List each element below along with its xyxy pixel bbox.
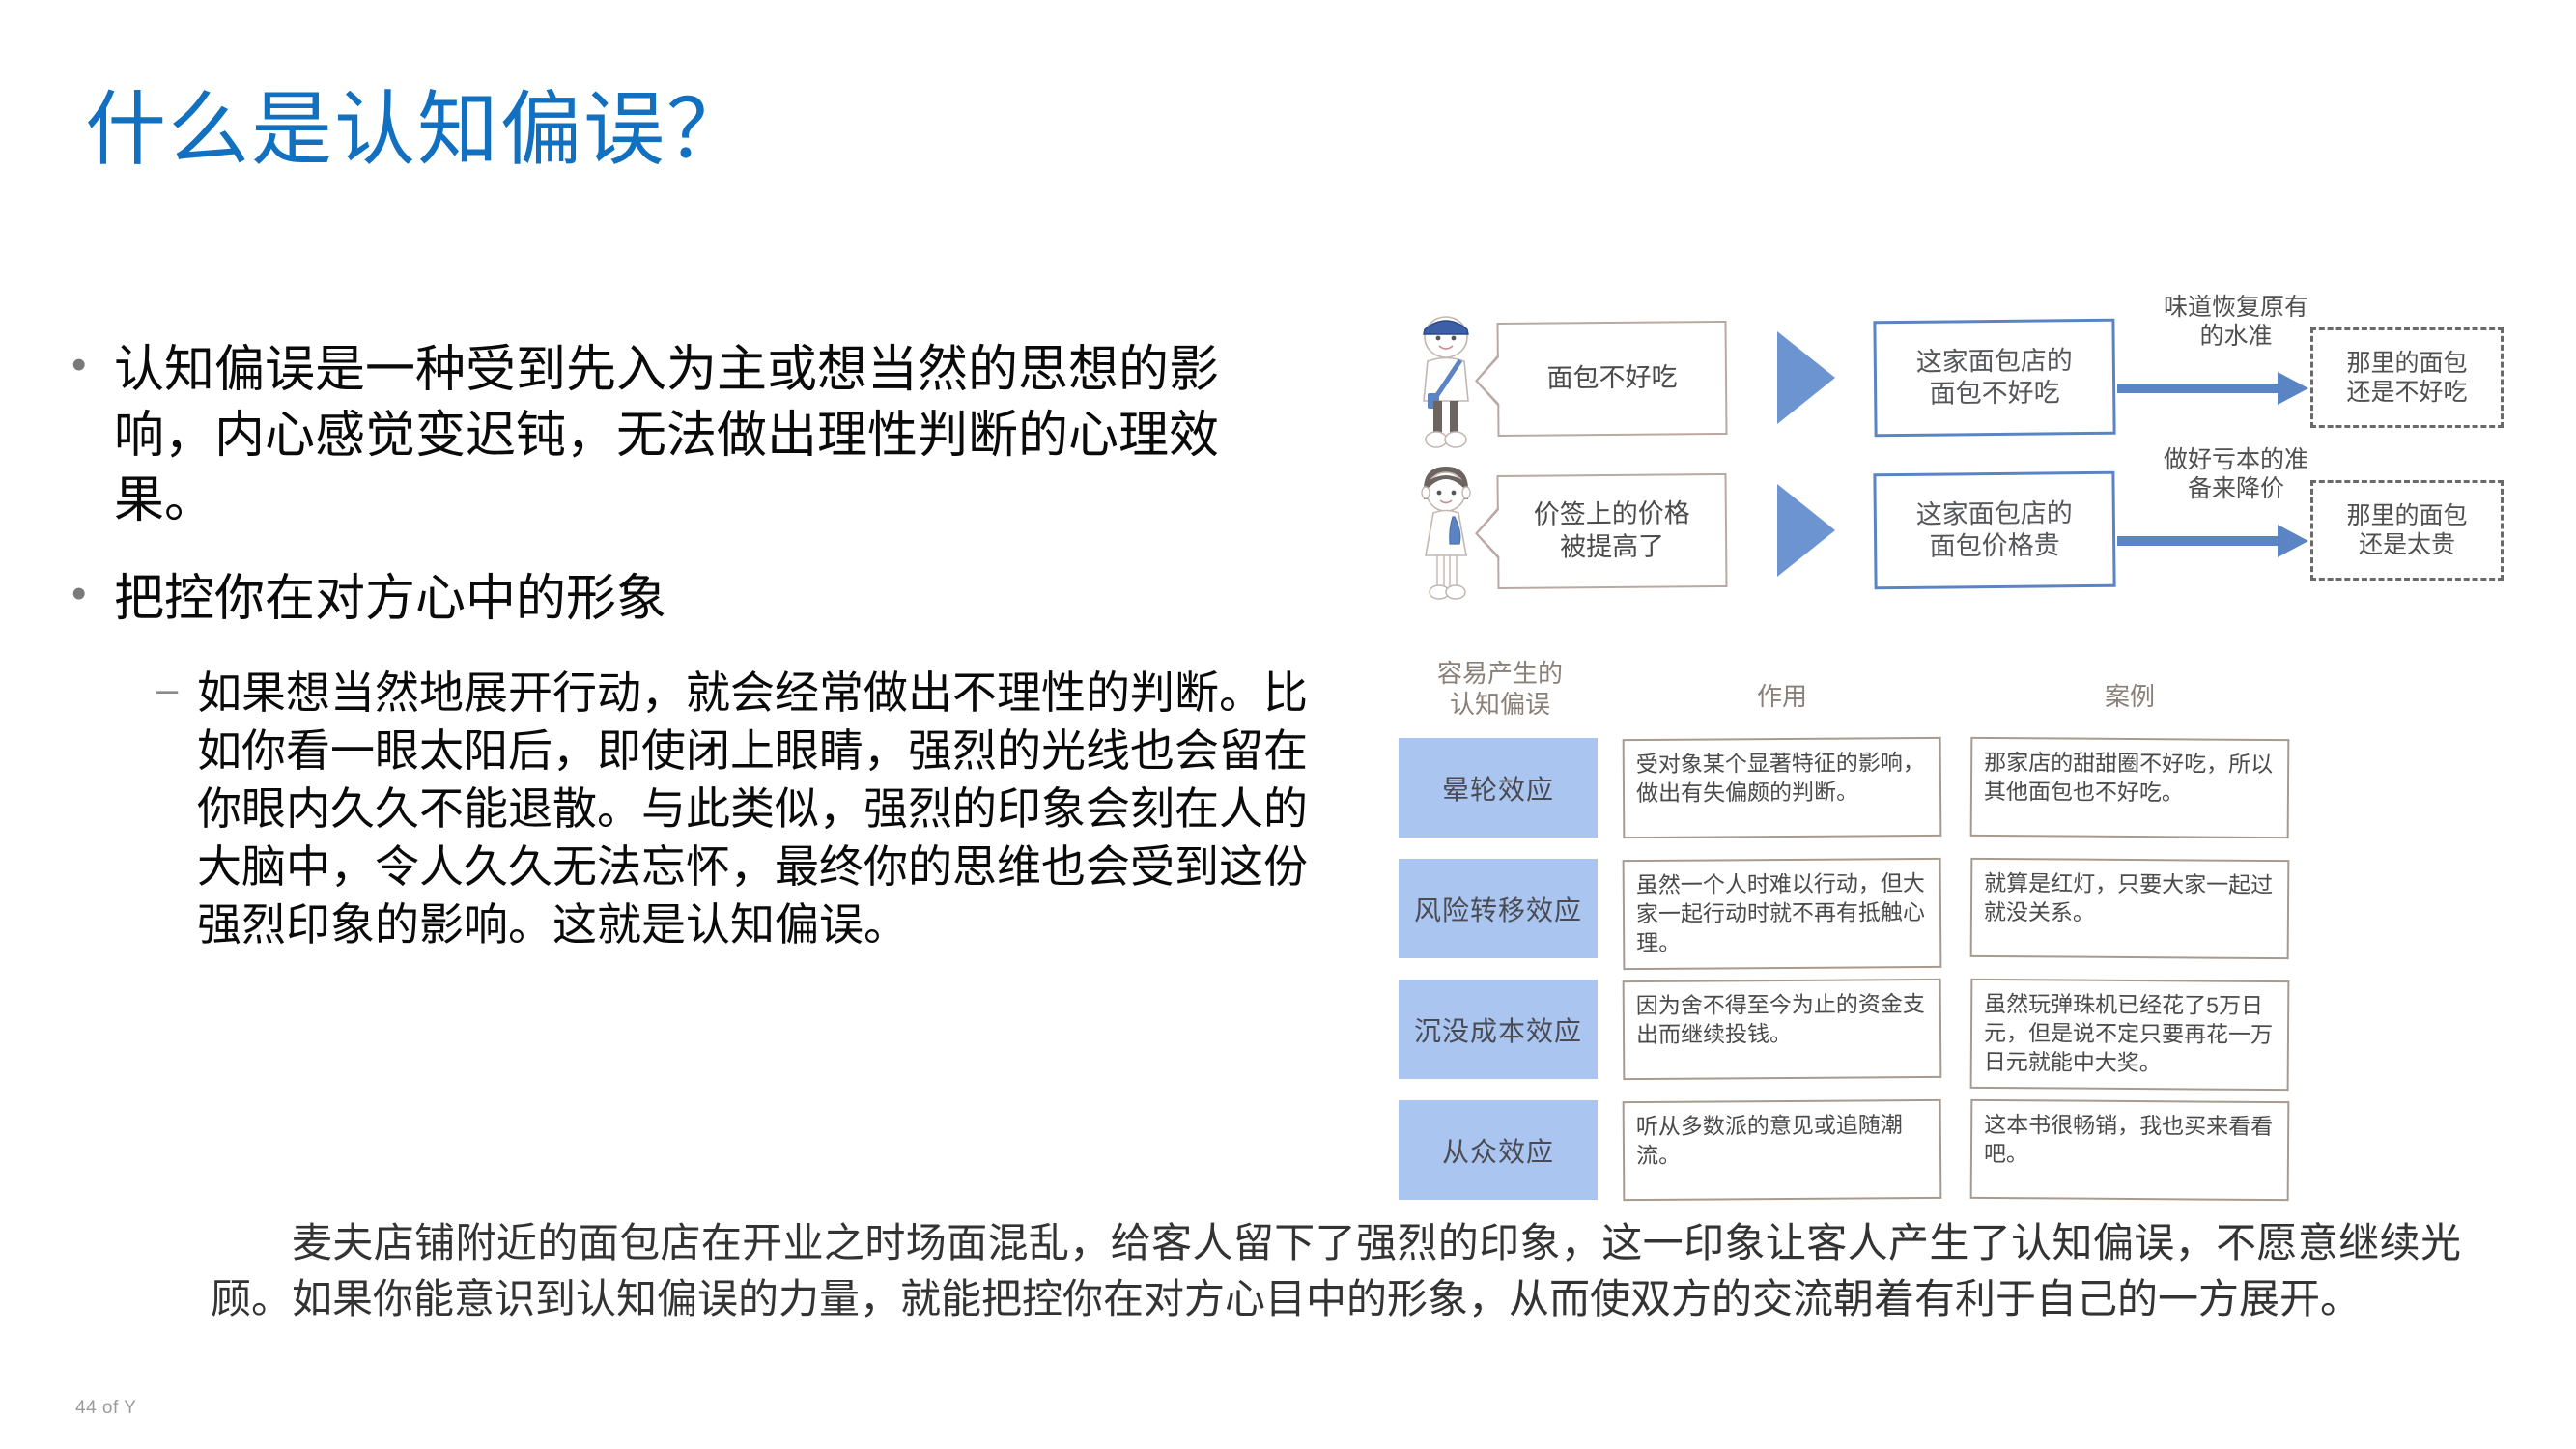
flow-row: 价签上的价格 被提高了 这家面包店的 面包价格贵 做好亏本的准 备来降价 那里的… xyxy=(1391,467,2415,602)
flow-row: 面包不好吃 这家面包店的 面包不好吃 味道恢复原有 的水准 那里的面包 还是不好… xyxy=(1391,314,2415,449)
bias-case-text: 那家店的甜甜圈不好吃，所以其他面包也不好吃。 xyxy=(1970,737,2290,838)
bias-case-text: 就算是红灯，只要大家一起过就没关系。 xyxy=(1970,858,2290,959)
result-box: 那里的面包 还是太贵 xyxy=(2310,480,2504,581)
bias-effect-text: 听从多数派的意见或追随潮流。 xyxy=(1623,1099,1942,1201)
slide-canvas: 什么是认知偏误？ • 认知偏误是一种受到先入为主或想当然的思想的影响，内心感觉变… xyxy=(0,0,2576,1449)
bias-name-label: 从众效应 xyxy=(1399,1100,1598,1200)
bias-name-label: 晕轮效应 xyxy=(1399,738,1598,838)
sub-bullet-item: – 如果想当然地展开行动，就会经常做出不理性的判断。比如你看一眼太阳后，即使闭上… xyxy=(156,665,1314,953)
bias-name-label: 风险转移效应 xyxy=(1399,859,1598,958)
table-row: 风险转移效应 虽然一个人时难以行动，但大家一起行动时就不再有抵触心理。 就算是红… xyxy=(1391,859,2415,968)
bullet-item-1: • 认知偏误是一种受到先入为主或想当然的思想的影响，内心感觉变迟钝，无法做出理性… xyxy=(68,338,1314,534)
triangle-arrow-icon xyxy=(1777,484,1835,577)
table-header-row: 容易产生的 认知偏误 作用 案例 xyxy=(1391,657,2415,738)
triangle-arrow-icon xyxy=(1777,331,1835,424)
bullet-item-2: • 把控你在对方心中的形象 xyxy=(68,567,1314,633)
table-header-effect: 作用 xyxy=(1623,682,1941,713)
bias-effect-text: 受对象某个显著特征的影响，做出有失偏颇的判断。 xyxy=(1623,737,1942,838)
bullet-marker: • xyxy=(68,567,114,621)
bias-effect-text: 因为舍不得至今为止的资金支出而继续投钱。 xyxy=(1623,979,1942,1080)
speech-callout: 价签上的价格 被提高了 xyxy=(1496,473,1727,589)
callout-tail-icon xyxy=(1475,354,1499,408)
callout-text: 价签上的价格 被提高了 xyxy=(1534,498,1691,565)
bias-table: 容易产生的 认知偏误 作用 案例 晕轮效应 受对象某个显著特征的影响，做出有失偏… xyxy=(1391,657,2415,1221)
speech-callout: 面包不好吃 xyxy=(1496,321,1727,437)
bullet-text: 认知偏误是一种受到先入为主或想当然的思想的影响，内心感觉变迟钝，无法做出理性判断… xyxy=(114,338,1314,534)
bias-case-text: 虽然玩弹珠机已经花了5万日元，但是说不定只要再花一万日元就能中大奖。 xyxy=(1970,979,2290,1091)
table-header-bias: 容易产生的 认知偏误 xyxy=(1399,659,1601,720)
bias-effect-text: 虽然一个人时难以行动，但大家一起行动时就不再有抵触心理。 xyxy=(1623,858,1942,970)
summary-paragraph: 麦夫店铺附近的面包店在开业之时场面混乱，给客人留下了强烈的印象，这一印象让客人产… xyxy=(211,1215,2461,1327)
sub-bullet-text: 如果想当然地展开行动，就会经常做出不理性的判断。比如你看一眼太阳后，即使闭上眼睛… xyxy=(197,665,1314,953)
right-arrow-icon xyxy=(2117,536,2279,546)
right-arrow-icon xyxy=(2117,384,2279,393)
perception-box: 这家面包店的 面包不好吃 xyxy=(1873,319,2115,438)
bias-name-label: 沉没成本效应 xyxy=(1399,980,1598,1079)
callout-text: 面包不好吃 xyxy=(1546,362,1677,396)
sub-bullet-marker: – xyxy=(156,665,197,715)
callout-tail-icon xyxy=(1475,506,1499,560)
result-box: 那里的面包 还是不好吃 xyxy=(2310,327,2504,428)
bullet-marker: • xyxy=(68,338,114,392)
table-row: 晕轮效应 受对象某个显著特征的影响，做出有失偏颇的判断。 那家店的甜甜圈不好吃，… xyxy=(1391,738,2415,847)
flow-diagram: 面包不好吃 这家面包店的 面包不好吃 味道恢复原有 的水准 那里的面包 还是不好… xyxy=(1391,314,2415,613)
table-row: 从众效应 听从多数派的意见或追随潮流。 这本书很畅销，我也买来看看吧。 xyxy=(1391,1100,2415,1209)
bias-case-text: 这本书很畅销，我也买来看看吧。 xyxy=(1970,1099,2290,1201)
left-content-column: • 认知偏误是一种受到先入为主或想当然的思想的影响，内心感觉变迟钝，无法做出理性… xyxy=(68,338,1314,953)
table-row: 沉没成本效应 因为舍不得至今为止的资金支出而继续投钱。 虽然玩弹珠机已经花了5万… xyxy=(1391,980,2415,1089)
perception-box: 这家面包店的 面包价格贵 xyxy=(1873,471,2115,590)
table-header-case: 案例 xyxy=(1970,682,2289,713)
illustration-figure: 面包不好吃 这家面包店的 面包不好吃 味道恢复原有 的水准 那里的面包 还是不好… xyxy=(1391,314,2415,1183)
page-title: 什么是认知偏误？ xyxy=(85,83,750,177)
bullet-text: 把控你在对方心中的形象 xyxy=(114,567,1314,633)
page-number: 44 of Y xyxy=(75,1398,136,1419)
